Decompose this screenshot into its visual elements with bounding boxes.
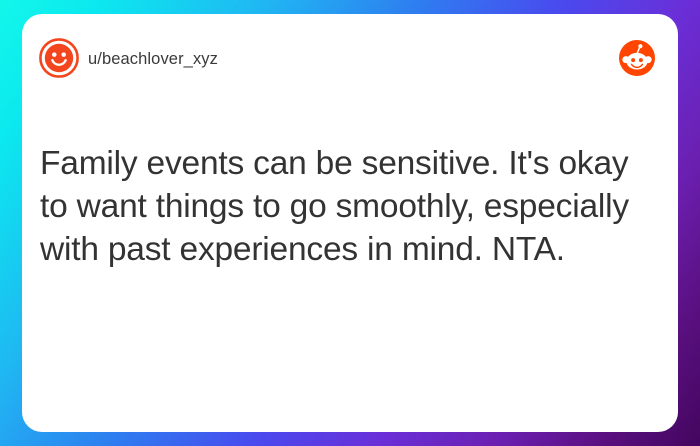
user-avatar[interactable] — [38, 37, 80, 79]
gradient-background: u/beachlover_xyz — [0, 0, 700, 446]
reddit-snoo-icon — [618, 39, 656, 77]
post-text: Family events can be sensitive. It's oka… — [40, 142, 630, 271]
post-header: u/beachlover_xyz — [22, 14, 678, 106]
username-label: u/beachlover_xyz — [88, 48, 218, 70]
reddit-post-card: u/beachlover_xyz — [22, 14, 678, 432]
